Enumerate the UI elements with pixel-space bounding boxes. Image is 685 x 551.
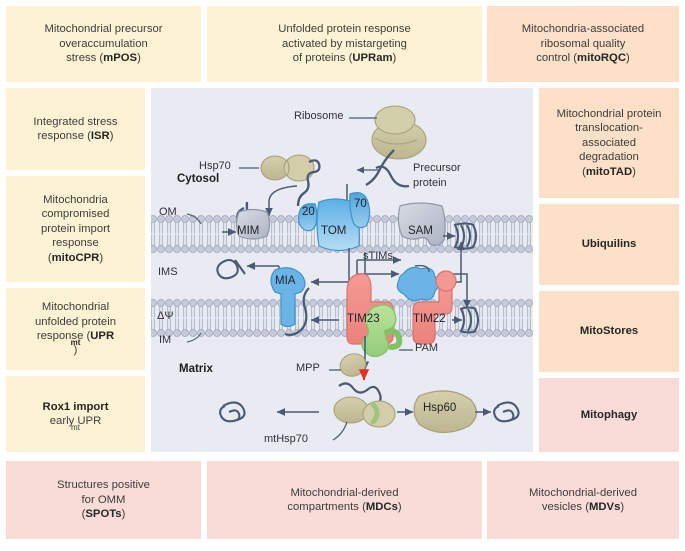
box-mpos-label: Mitochondrial precursoroveraccumulations…: [44, 22, 162, 65]
box-rox1-label: Rox1 importearly UPRmt: [43, 400, 109, 429]
box-mdvs-label: Mitochondrial-derivedvesicles (MDVs): [529, 486, 637, 515]
beta-barrel-om: [454, 224, 476, 249]
box-mitorqc-label: Mitochondria-associatedribosomal quality…: [522, 22, 644, 65]
label-tim23: TIM23: [347, 313, 380, 325]
box-mdcs-label: Mitochondrial-derivedcompartments (MDCs): [287, 486, 401, 515]
box-mdvs[interactable]: Mitochondrial-derivedvesicles (MDVs): [487, 461, 679, 539]
label-mpp: MPP: [296, 362, 320, 374]
box-uprmt-label: Mitochondrialunfolded proteinresponse (U…: [35, 300, 116, 358]
label-ims: IMS: [158, 266, 178, 278]
ribosome-icon: [372, 106, 426, 159]
box-isr-label: Integrated stressresponse (ISR): [33, 115, 117, 144]
folded-protein-left: [220, 402, 244, 421]
label-om: OM: [159, 206, 177, 218]
label-mia: MIA: [275, 275, 295, 287]
box-ubiquilins-label: Ubiquilins: [582, 237, 637, 251]
arrow-hsp70-to-mim: [269, 186, 297, 216]
label-cytosol: Cytosol: [177, 173, 219, 185]
mthsp70-icon: [334, 397, 395, 427]
folded-protein-right: [494, 402, 518, 421]
label-tom20: 20: [302, 206, 315, 218]
label-matrix: Matrix: [179, 363, 213, 375]
box-mdcs[interactable]: Mitochondrial-derivedcompartments (MDCs): [207, 461, 482, 539]
label-im: IM: [159, 334, 171, 346]
box-mitophagy[interactable]: Mitophagy: [539, 378, 679, 452]
box-mitocpr[interactable]: Mitochondriacompromisedprotein importres…: [6, 176, 145, 282]
label-mthsp70: mtHsp70: [264, 433, 308, 445]
diagram-svg: [151, 88, 533, 452]
box-mitotad-label: Mitochondrial proteintranslocation-assoc…: [557, 107, 662, 179]
box-mitotad[interactable]: Mitochondrial proteintranslocation-assoc…: [539, 88, 679, 198]
label-pam: PAM: [415, 342, 438, 354]
box-mitophagy-label: Mitophagy: [581, 408, 637, 422]
box-ubiquilins[interactable]: Ubiquilins: [539, 204, 679, 285]
box-mitostores-label: MitoStores: [580, 324, 638, 338]
label-tom: TOM: [321, 225, 346, 237]
label-sam: SAM: [408, 225, 433, 237]
box-mitostores[interactable]: MitoStores: [539, 291, 679, 372]
box-rox1[interactable]: Rox1 importearly UPRmt: [6, 376, 145, 452]
label-mim: MIM: [237, 225, 259, 237]
box-mitocpr-label: Mitochondriacompromisedprotein importres…: [41, 193, 110, 265]
mthsp70-leader: [333, 422, 347, 440]
box-upram-label: Unfolded protein responseactivated by mi…: [278, 22, 411, 65]
stims-chaperone: [397, 267, 439, 300]
box-spots[interactable]: Structures positivefor OMM(SPOTs): [6, 461, 201, 539]
box-mpos[interactable]: Mitochondrial precursoroveraccumulations…: [6, 6, 201, 82]
carrier-protein-im: [460, 308, 478, 333]
label-ribosome: Ribosome: [294, 110, 344, 122]
box-upram[interactable]: Unfolded protein responseactivated by mi…: [207, 6, 482, 82]
label-hsp70: Hsp70: [199, 160, 231, 172]
box-spots-label: Structures positivefor OMM(SPOTs): [57, 478, 150, 521]
box-isr[interactable]: Integrated stressresponse (ISR): [6, 88, 145, 170]
mitochondria-diagram-panel: Cytosol IMS Matrix OM IM Ribosome Hsp70 …: [151, 88, 533, 452]
label-hsp60: Hsp60: [423, 402, 456, 414]
label-precursor-protein-line2: protein: [413, 177, 447, 189]
hsp70-icon: [261, 155, 314, 181]
label-membrane-potential: ΔΨ: [157, 310, 174, 322]
box-uprmt[interactable]: Mitochondrialunfolded proteinresponse (U…: [6, 288, 145, 370]
box-mitorqc[interactable]: Mitochondria-associatedribosomal quality…: [487, 6, 679, 82]
label-tim22: TIM22: [413, 313, 446, 325]
label-stims: sTIMs: [363, 250, 393, 262]
ims-small-protein: [217, 260, 245, 278]
label-precursor-protein-line1: Precursor: [413, 162, 461, 174]
label-tom70: 70: [354, 198, 367, 210]
